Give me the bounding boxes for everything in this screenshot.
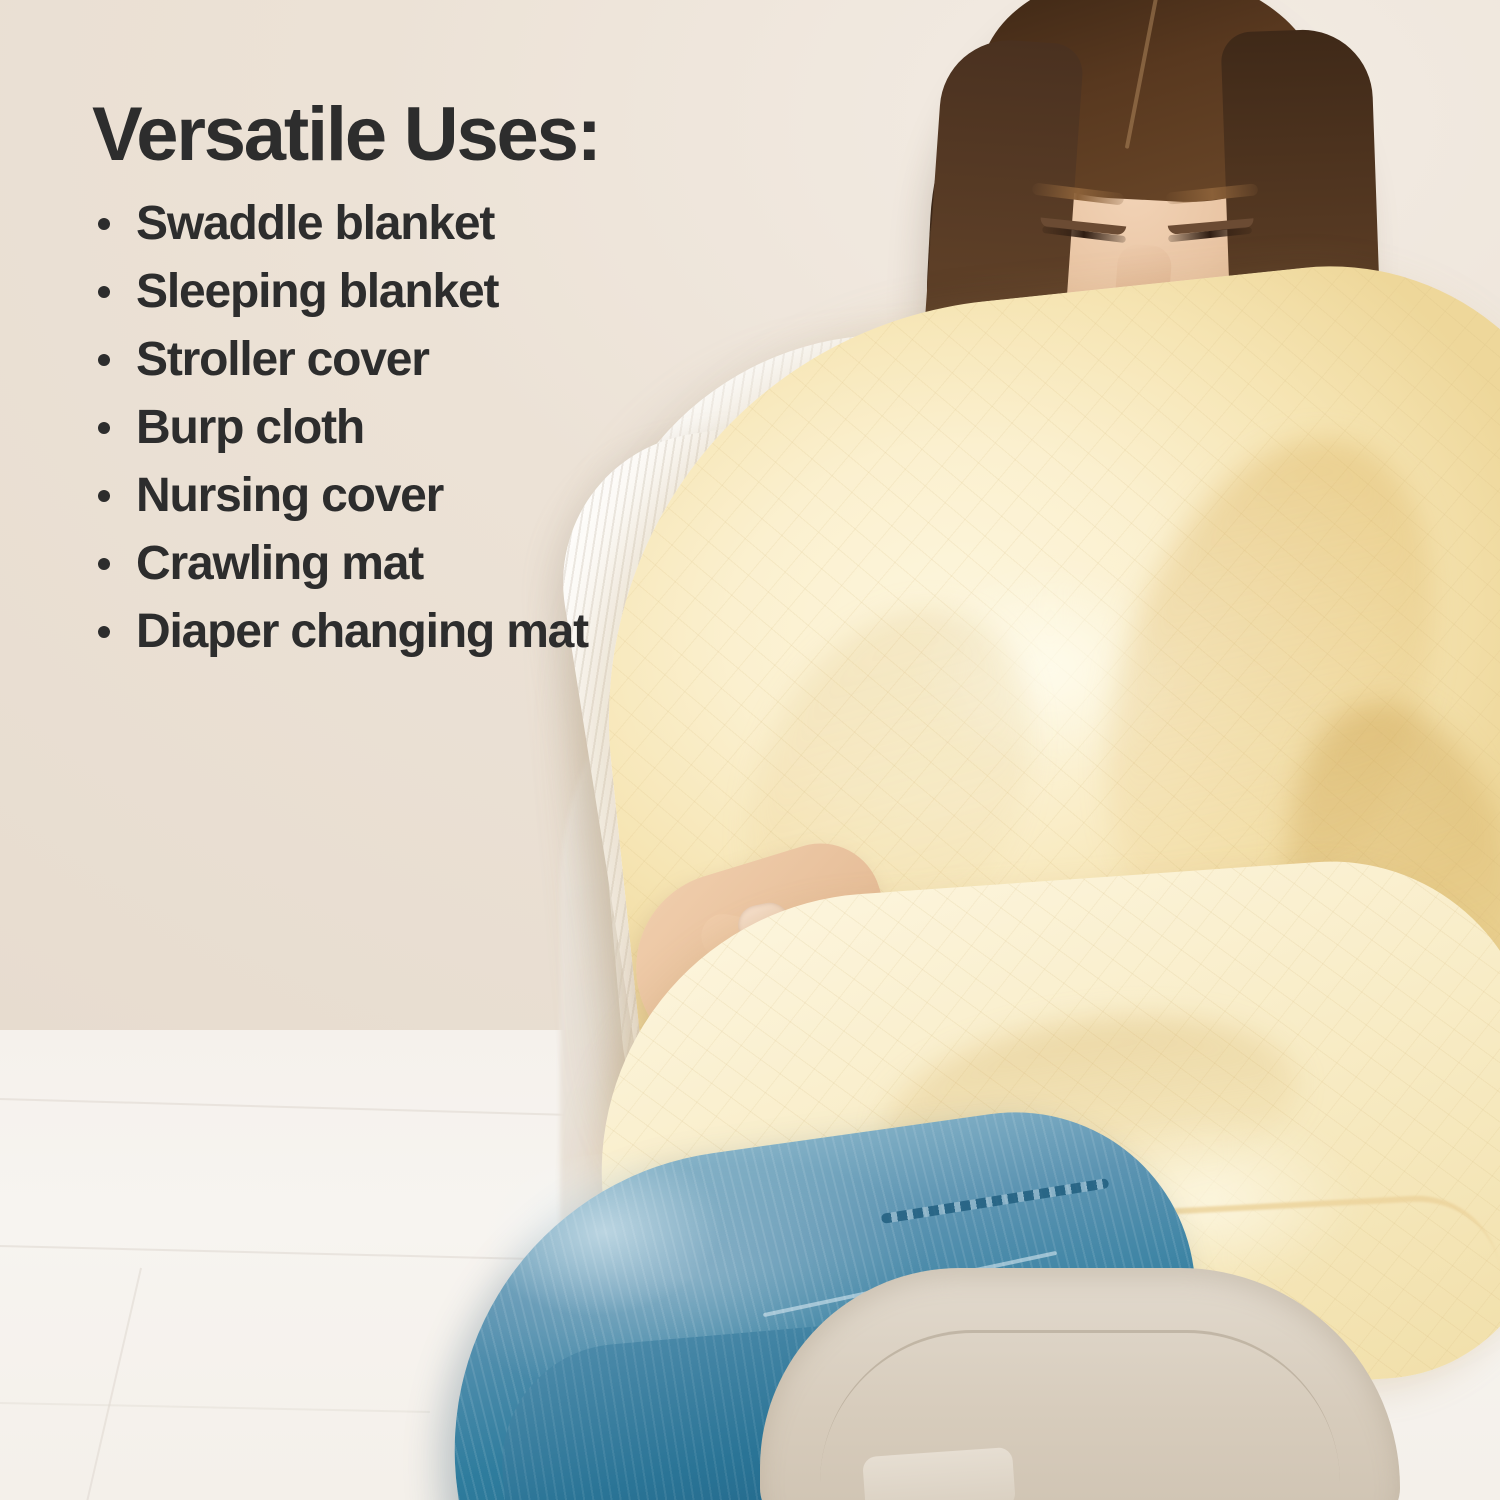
chair-leg <box>862 1447 1016 1500</box>
bullet-dot-icon <box>98 558 110 570</box>
list-item-label: Swaddle blanket <box>136 200 494 248</box>
list-item-label: Crawling mat <box>136 540 423 588</box>
list-item-label: Sleeping blanket <box>136 268 498 316</box>
bullet-dot-icon <box>98 490 110 502</box>
product-feature-image: Versatile Uses: Swaddle blanket Sleeping… <box>0 0 1500 1500</box>
bullet-dot-icon <box>98 422 110 434</box>
list-item: Stroller cover <box>92 326 792 394</box>
list-item: Sleeping blanket <box>92 258 792 326</box>
list-item-label: Nursing cover <box>136 472 443 520</box>
marketing-copy-block: Versatile Uses: Swaddle blanket Sleeping… <box>92 96 792 666</box>
list-item: Nursing cover <box>92 462 792 530</box>
list-item-label: Burp cloth <box>136 404 364 452</box>
list-item: Diaper changing mat <box>92 598 792 666</box>
list-item-label: Diaper changing mat <box>136 608 588 656</box>
bullet-dot-icon <box>98 286 110 298</box>
list-item: Burp cloth <box>92 394 792 462</box>
list-item: Crawling mat <box>92 530 792 598</box>
bullet-dot-icon <box>98 354 110 366</box>
list-item-label: Stroller cover <box>136 336 429 384</box>
list-item: Swaddle blanket <box>92 190 792 258</box>
uses-list: Swaddle blanket Sleeping blanket Strolle… <box>92 190 792 666</box>
bullet-dot-icon <box>98 218 110 230</box>
bullet-dot-icon <box>98 626 110 638</box>
page-title: Versatile Uses: <box>92 96 792 174</box>
